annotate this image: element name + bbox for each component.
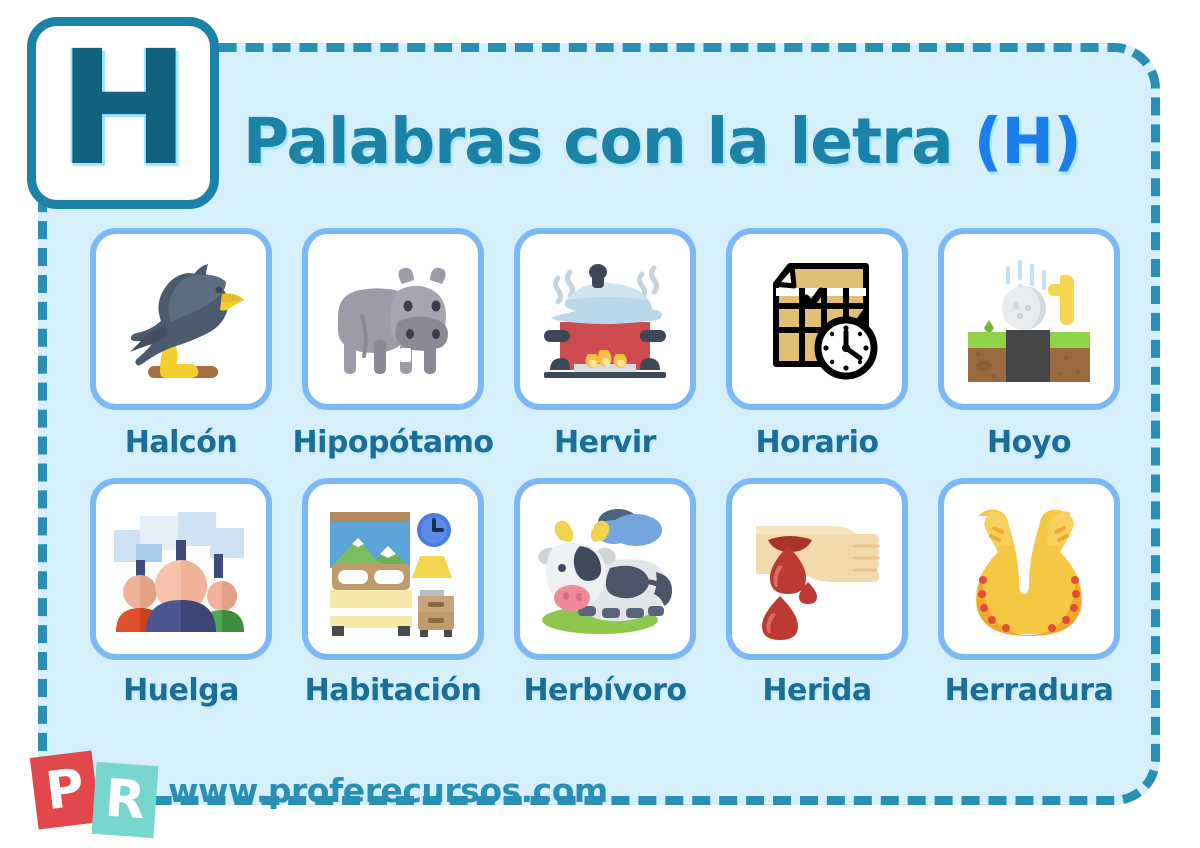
calendar-clock-icon (742, 244, 892, 394)
hippo-icon (318, 244, 468, 394)
card-label: Herradura (945, 668, 1114, 714)
falcon-icon (106, 244, 256, 394)
word-card-grid: Halcón Hipopótamo (75, 228, 1135, 714)
card-image-frame (90, 228, 272, 410)
card-label: Hipopótamo (292, 420, 493, 466)
word-card-herradura[interactable]: Herradura (923, 478, 1135, 714)
card-image-frame (938, 228, 1120, 410)
horseshoe-icon (954, 494, 1104, 644)
logo-tile-p: P (30, 750, 100, 829)
card-image-frame (514, 478, 696, 660)
card-image-frame (938, 478, 1120, 660)
card-image-frame (726, 228, 908, 410)
word-card-habitacion[interactable]: Habitación (287, 478, 499, 714)
word-card-halcon[interactable]: Halcón (75, 228, 287, 466)
cow-icon (530, 494, 680, 644)
word-card-herida[interactable]: Herida (711, 478, 923, 714)
word-card-hoyo[interactable]: Hoyo (923, 228, 1135, 466)
website-url[interactable]: www.proferecursos.com (168, 768, 608, 814)
card-label: Habitación (305, 668, 482, 714)
title-accent-text: (H) (974, 105, 1081, 178)
logo-letter-p: P (43, 762, 87, 818)
card-label: Hoyo (987, 420, 1071, 466)
boiling-pot-icon (530, 244, 680, 394)
card-image-frame (726, 478, 908, 660)
card-label: Herida (762, 668, 871, 714)
title-main-text: Palabras con la letra (243, 105, 974, 178)
logo-tile-r: R (92, 762, 159, 838)
card-label: Horario (756, 420, 879, 466)
word-card-huelga[interactable]: Huelga (75, 478, 287, 714)
golf-hole-icon (954, 244, 1104, 394)
letter-badge: H (27, 17, 219, 209)
card-image-frame (90, 478, 272, 660)
logo-letter-r: R (103, 773, 147, 828)
card-label: Hervir (554, 420, 656, 466)
word-card-herbivoro[interactable]: Herbívoro (499, 478, 711, 714)
card-image-frame (302, 478, 484, 660)
card-label: Halcón (125, 420, 237, 466)
word-card-hervir[interactable]: Hervir (499, 228, 711, 466)
footer: P R www.proferecursos.com (28, 752, 728, 832)
card-label: Herbívoro (523, 668, 686, 714)
word-card-hipopotamo[interactable]: Hipopótamo (287, 228, 499, 466)
wound-blood-icon (742, 494, 892, 644)
card-image-frame (302, 228, 484, 410)
word-card-horario[interactable]: Horario (711, 228, 923, 466)
strike-protest-icon (106, 494, 256, 644)
badge-letter: H (58, 30, 188, 188)
page-title: Palabras con la letra (H) (243, 96, 1143, 188)
card-label: Huelga (123, 668, 239, 714)
bedroom-icon (318, 494, 468, 644)
card-image-frame (514, 228, 696, 410)
